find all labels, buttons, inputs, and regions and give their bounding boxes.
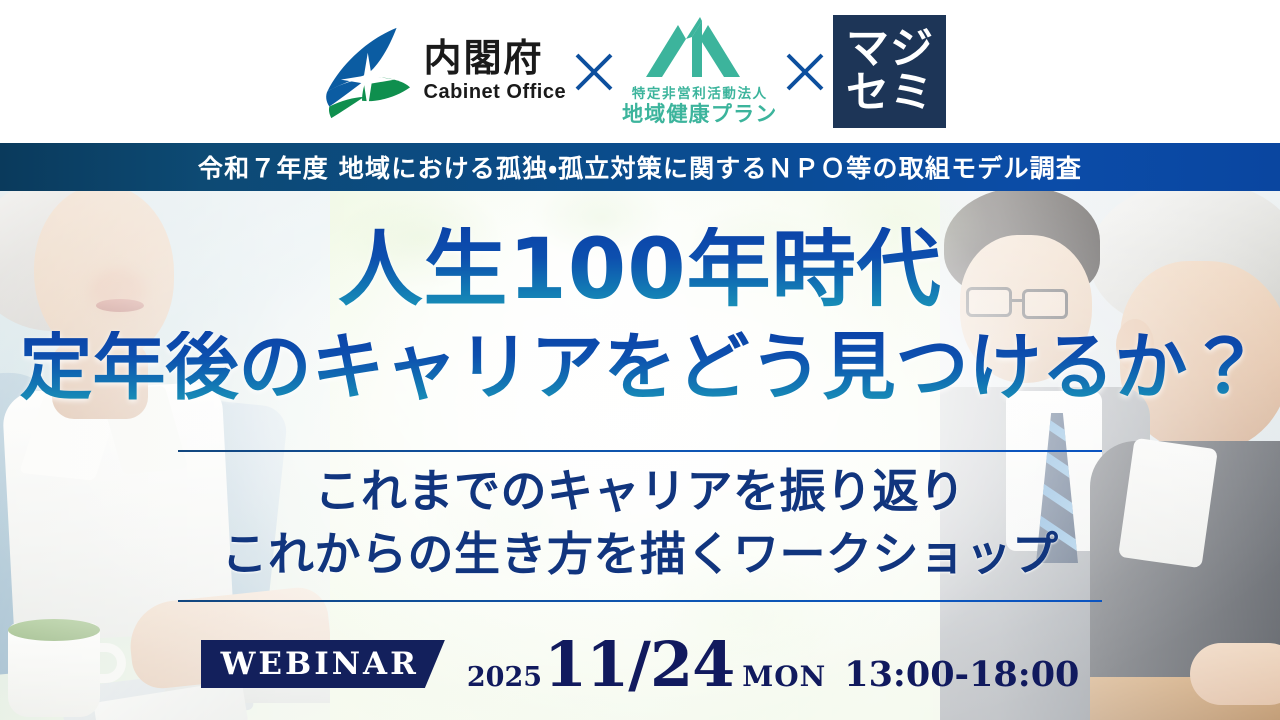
cabinet-office-text: 内閣府 Cabinet Office	[424, 39, 567, 105]
divider-top	[178, 450, 1102, 452]
subtitle-line-1: これまでのキャリアを振り返り	[0, 468, 1280, 514]
chiiki-kenko-plan-logo: 特定非営利活動法人 地域健康プラン	[622, 17, 777, 126]
event-month-day: 11/24	[544, 628, 734, 701]
cabinet-office-en-label: Cabinet Office	[424, 80, 567, 104]
majisemi-logo: マジ セミ	[833, 15, 946, 128]
hero-section: 人生100年時代 定年後のキャリアをどう見つけるか？ これまでのキャリアを振り返…	[0, 191, 1280, 720]
logo-separator-1	[566, 49, 622, 95]
survey-title-text: 令和７年度 地域における孤独・孤立対策に関するＮＰＯ等の取組モデル調査	[198, 149, 1082, 185]
webinar-badge: WEBINAR	[201, 640, 445, 688]
npo-logo-slot: 特定非営利活動法人 地域健康プラン	[622, 17, 777, 126]
majisemi-line-1: マジ	[846, 28, 934, 72]
cabinet-office-leaf-star-icon	[314, 24, 410, 120]
times-icon	[571, 49, 617, 95]
event-year: 2025	[467, 662, 542, 693]
majisemi-logo-slot: マジ セミ	[833, 15, 946, 128]
webinar-banner: 内閣府 Cabinet Office 特定非営利活動法人 地域健康プラ	[0, 0, 1280, 720]
majisemi-line-2: セミ	[846, 72, 934, 116]
event-date-time: 2025 11/24 MON 13:00-18:00	[467, 628, 1080, 701]
cabinet-office-logo-slot: 内閣府 Cabinet Office	[334, 24, 567, 120]
cabinet-office-logo: 内閣府 Cabinet Office	[314, 24, 567, 120]
divider-bottom	[178, 600, 1102, 602]
headline-line-1: 人生100年時代	[0, 227, 1280, 311]
npo-subtitle: 特定非営利活動法人	[632, 82, 768, 102]
times-icon	[782, 49, 828, 95]
survey-title-bar: 令和７年度 地域における孤独・孤立対策に関するＮＰＯ等の取組モデル調査	[0, 143, 1280, 191]
cabinet-office-jp-label: 内閣府	[424, 39, 567, 79]
event-time: 13:00-18:00	[844, 654, 1079, 695]
logo-bar: 内閣府 Cabinet Office 特定非営利活動法人 地域健康プラ	[0, 0, 1280, 143]
event-info-row: WEBINAR 2025 11/24 MON 13:00-18:00	[0, 629, 1280, 699]
headline-line-2: 定年後のキャリアをどう見つけるか？	[0, 331, 1280, 404]
event-day-of-week: MON	[742, 660, 826, 693]
mountain-m-icon	[640, 17, 760, 79]
logo-separator-2	[777, 49, 833, 95]
hero-content: 人生100年時代 定年後のキャリアをどう見つけるか？ これまでのキャリアを振り返…	[0, 191, 1280, 720]
npo-name: 地域健康プラン	[622, 102, 777, 126]
subtitle-line-2: これからの生き方を描くワークショップ	[0, 531, 1280, 577]
